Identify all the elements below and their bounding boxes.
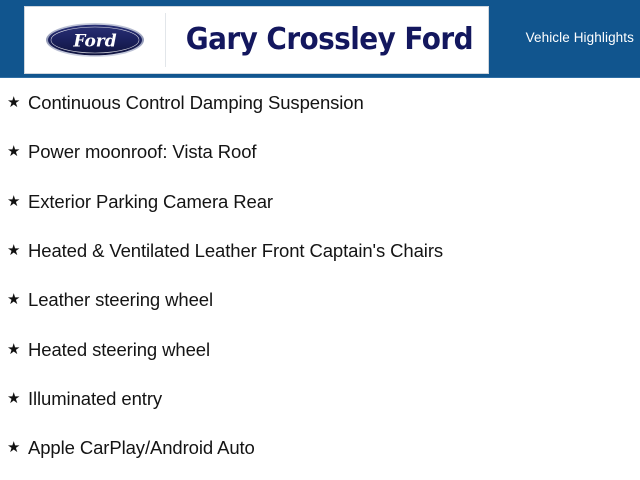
feature-label: Continuous Control Damping Suspension [28,92,364,113]
star-bullet-icon: ★ [7,243,28,258]
feature-label: Power moonroof: Vista Roof [28,141,256,162]
section-title-vehicle-highlights: Vehicle Highlights [526,31,634,45]
header-band: Ford Gary Crossley Ford Vehicle Highligh… [0,0,640,78]
star-bullet-icon: ★ [7,95,28,110]
list-item: ★ Power moonroof: Vista Roof [0,127,640,176]
list-item: ★ Leather steering wheel [0,275,640,324]
dealer-name-container: Gary Crossley Ford [166,6,488,74]
dealer-logo-panel[interactable]: Ford Gary Crossley Ford [24,6,489,74]
list-item: ★ Apple CarPlay/Android Auto [0,423,640,472]
list-item: ★ Continuous Control Damping Suspension [0,78,640,127]
ford-oval-icon: Ford [25,6,165,74]
star-bullet-icon: ★ [7,342,28,357]
list-item: ★ Heated & Ventilated Leather Front Capt… [0,226,640,275]
feature-label: Leather steering wheel [28,289,213,310]
feature-label: Heated steering wheel [28,339,210,360]
list-item: ★ Illuminated entry [0,374,640,423]
feature-label: Exterior Parking Camera Rear [28,191,273,212]
star-bullet-icon: ★ [7,144,28,159]
star-bullet-icon: ★ [7,292,28,307]
feature-label: Apple CarPlay/Android Auto [28,437,255,458]
star-bullet-icon: ★ [7,440,28,455]
dealer-name: Gary Crossley Ford [185,25,472,55]
list-item: ★ Exterior Parking Camera Rear [0,177,640,226]
feature-label: Illuminated entry [28,388,162,409]
star-bullet-icon: ★ [7,391,28,406]
svg-text:Ford: Ford [72,32,116,52]
vehicle-highlights-list: ★ Continuous Control Damping Suspension … [0,78,640,472]
list-item: ★ Heated steering wheel [0,324,640,373]
star-bullet-icon: ★ [7,194,28,209]
feature-label: Heated & Ventilated Leather Front Captai… [28,240,443,261]
